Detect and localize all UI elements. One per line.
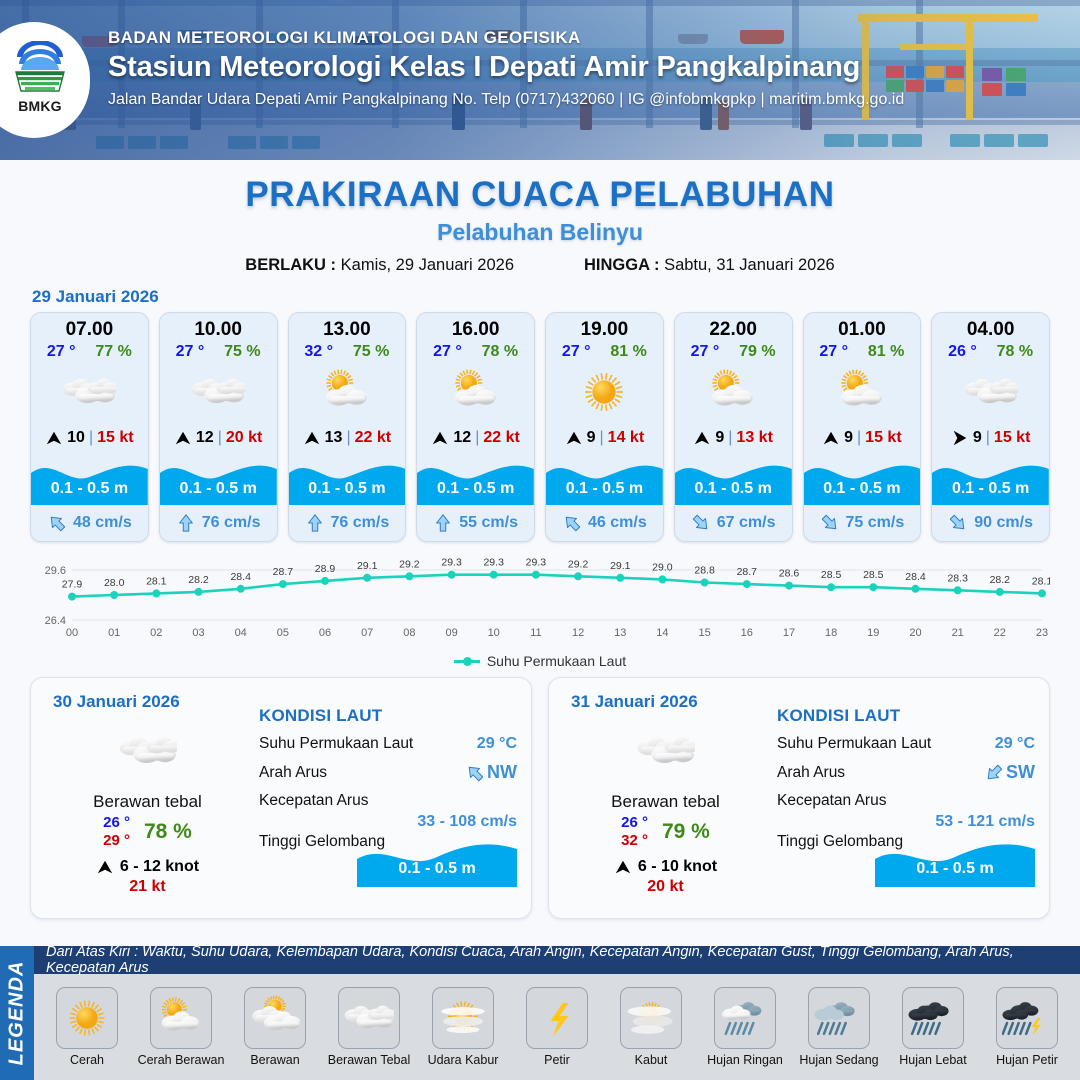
card-wind-speed: 9 bbox=[844, 429, 853, 447]
cerah-berawan-icon bbox=[417, 363, 534, 421]
forecast-card: 13.00 32 ° 75 % 13 | 22 kt 0.1 - 0.5 m bbox=[288, 312, 407, 542]
card-humidity: 77 % bbox=[95, 343, 131, 361]
card-time: 16.00 bbox=[417, 313, 534, 342]
station-name: Stasiun Meteorologi Kelas I Depati Amir … bbox=[108, 51, 904, 84]
card-gust: 15 kt bbox=[97, 429, 133, 447]
card-humidity: 78 % bbox=[482, 343, 518, 361]
card-wave: 0.1 - 0.5 m bbox=[289, 455, 406, 505]
valid-from: BERLAKU : Kamis, 29 Januari 2026 bbox=[245, 256, 514, 275]
svg-text:26.4: 26.4 bbox=[45, 615, 66, 627]
card-gust: 22 kt bbox=[483, 429, 519, 447]
card-time: 22.00 bbox=[675, 313, 792, 342]
card-temperature: 27 ° bbox=[819, 343, 848, 361]
chart-legend: Suhu Permukaan Laut bbox=[0, 653, 1080, 669]
card-wind: 12 | 22 kt bbox=[417, 421, 534, 455]
legend-item-label: Hujan Ringan bbox=[707, 1053, 783, 1067]
svg-text:17: 17 bbox=[783, 627, 795, 639]
svg-text:12: 12 bbox=[572, 627, 584, 639]
svg-text:29.2: 29.2 bbox=[399, 558, 420, 570]
panel-wave-height: 0.1 - 0.5 m bbox=[357, 860, 517, 878]
forecast-card: 22.00 27 ° 79 % 9 | 13 kt 0.1 - 0.5 m bbox=[674, 312, 793, 542]
card-current-speed: 55 cm/s bbox=[459, 514, 518, 532]
card-wave-height: 0.1 - 0.5 m bbox=[804, 480, 921, 498]
svg-text:23: 23 bbox=[1036, 627, 1048, 639]
card-wave: 0.1 - 0.5 m bbox=[31, 455, 148, 505]
svg-text:01: 01 bbox=[108, 627, 120, 639]
svg-text:20: 20 bbox=[909, 627, 921, 639]
svg-text:28.8: 28.8 bbox=[694, 565, 715, 577]
svg-text:29.0: 29.0 bbox=[652, 561, 673, 573]
legend-item-label: Cerah bbox=[70, 1053, 104, 1067]
forecast-card: 19.00 27 ° 81 % 9 | 14 kt 0.1 - 0.5 m 46… bbox=[545, 312, 664, 542]
current-direction-icon bbox=[820, 513, 840, 533]
wind-separator: | bbox=[728, 429, 732, 447]
berawan-tebal-icon bbox=[338, 987, 400, 1049]
page-title-block: PRAKIRAAN CUACA PELABUHAN Pelabuhan Beli… bbox=[0, 175, 1080, 275]
legend-item-label: Petir bbox=[544, 1053, 570, 1067]
card-wind: 10 | 15 kt bbox=[31, 421, 148, 455]
legend-item: Hujan Petir bbox=[981, 987, 1073, 1067]
wind-separator: | bbox=[986, 429, 990, 447]
card-wind-speed: 10 bbox=[67, 429, 85, 447]
legend-item-label: Hujan Petir bbox=[996, 1053, 1058, 1067]
svg-text:15: 15 bbox=[698, 627, 710, 639]
card-current-speed: 48 cm/s bbox=[73, 514, 132, 532]
sst-label: Suhu Permukaan Laut bbox=[259, 735, 413, 753]
berawan-tebal-icon bbox=[563, 722, 768, 780]
panel-gust: 21 kt bbox=[45, 878, 250, 896]
legend-item: Hujan Sedang bbox=[793, 987, 885, 1067]
svg-text:29.3: 29.3 bbox=[483, 557, 504, 569]
svg-text:02: 02 bbox=[150, 627, 162, 639]
wind-separator: | bbox=[346, 429, 350, 447]
wind-direction-icon bbox=[303, 429, 321, 447]
card-wind: 12 | 20 kt bbox=[160, 421, 277, 455]
svg-text:06: 06 bbox=[319, 627, 331, 639]
legend-item: Cerah bbox=[41, 987, 133, 1067]
svg-text:28.1: 28.1 bbox=[146, 575, 167, 587]
agency-name: BADAN METEOROLOGI KLIMATOLOGI DAN GEOFIS… bbox=[108, 28, 904, 48]
current-direction-icon bbox=[948, 513, 968, 533]
svg-text:09: 09 bbox=[445, 627, 457, 639]
card-gust: 15 kt bbox=[865, 429, 901, 447]
card-wind-speed: 13 bbox=[325, 429, 343, 447]
forecast-card: 04.00 26 ° 78 % 9 bbox=[931, 312, 1050, 542]
legend-item-label: Berawan bbox=[250, 1053, 299, 1067]
valid-to: HINGGA : Sabtu, 31 Januari 2026 bbox=[584, 256, 835, 275]
panel-condition: Berawan tebal bbox=[563, 792, 768, 812]
card-temperature: 32 ° bbox=[304, 343, 333, 361]
svg-text:28.0: 28.0 bbox=[104, 577, 125, 589]
hujan-lebat-icon bbox=[902, 987, 964, 1049]
card-current-speed: 90 cm/s bbox=[974, 514, 1033, 532]
wind-direction-icon bbox=[174, 429, 192, 447]
card-gust: 20 kt bbox=[226, 429, 262, 447]
hujan-petir-icon bbox=[996, 987, 1058, 1049]
svg-text:28.3: 28.3 bbox=[947, 572, 968, 584]
wind-direction-icon bbox=[565, 429, 583, 447]
current-direction-icon bbox=[465, 763, 485, 783]
card-temperature: 27 ° bbox=[562, 343, 591, 361]
svg-text:28.6: 28.6 bbox=[779, 568, 800, 580]
cerah-berawan-icon bbox=[289, 363, 406, 421]
current-direction-value: SW bbox=[984, 762, 1035, 783]
panel-wind-speed: 6 - 10 knot bbox=[638, 858, 717, 876]
card-current-speed: 76 cm/s bbox=[202, 514, 261, 532]
valid-from-label: BERLAKU : bbox=[245, 256, 336, 274]
sst-value: 29 °C bbox=[995, 735, 1035, 753]
panel-date: 31 Januari 2026 bbox=[571, 692, 698, 712]
valid-to-label: HINGGA : bbox=[584, 256, 659, 274]
panel-temp-min: 26 ° bbox=[621, 814, 648, 832]
current-direction-icon bbox=[176, 513, 196, 533]
wind-direction-icon bbox=[693, 429, 711, 447]
cerah-berawan-icon bbox=[675, 363, 792, 421]
forecast-cards: 07.00 27 ° 77 % 10 bbox=[0, 312, 1080, 542]
legend-item: Berawan Tebal bbox=[323, 987, 415, 1067]
current-speed-value: 33 - 108 cm/s bbox=[417, 813, 517, 830]
contact-info: Jalan Bandar Udara Depati Amir Pangkalpi… bbox=[108, 91, 904, 109]
panel-date: 30 Januari 2026 bbox=[53, 692, 180, 712]
legend-section: LEGENDA Dari Atas Kiri : Waktu, Suhu Uda… bbox=[0, 946, 1080, 1080]
card-current: 48 cm/s bbox=[31, 505, 148, 541]
svg-text:03: 03 bbox=[192, 627, 204, 639]
current-speed-label: Kecepatan Arus bbox=[259, 792, 368, 809]
card-current: 90 cm/s bbox=[932, 505, 1049, 541]
card-humidity: 79 % bbox=[739, 343, 775, 361]
legend-item: Berawan bbox=[229, 987, 321, 1067]
kabut-icon bbox=[620, 987, 682, 1049]
svg-text:22: 22 bbox=[994, 627, 1006, 639]
legend-item-label: Hujan Sedang bbox=[799, 1053, 878, 1067]
card-time: 10.00 bbox=[160, 313, 277, 342]
panel-wind: 6 - 12 knot bbox=[45, 858, 250, 876]
cerah-icon bbox=[56, 987, 118, 1049]
svg-text:28.9: 28.9 bbox=[315, 563, 336, 575]
card-temperature: 26 ° bbox=[948, 343, 977, 361]
card-wind-speed: 12 bbox=[453, 429, 471, 447]
card-current: 55 cm/s bbox=[417, 505, 534, 541]
card-gust: 13 kt bbox=[736, 429, 772, 447]
card-wave: 0.1 - 0.5 m bbox=[932, 455, 1049, 505]
card-wave-height: 0.1 - 0.5 m bbox=[160, 480, 277, 498]
legend-item-label: Berawan Tebal bbox=[328, 1053, 410, 1067]
card-wind-speed: 12 bbox=[196, 429, 214, 447]
forecast-date-label: 29 Januari 2026 bbox=[32, 287, 1080, 307]
card-wave-height: 0.1 - 0.5 m bbox=[289, 480, 406, 498]
hujan-sedang-icon bbox=[808, 987, 870, 1049]
berawan-tebal-icon bbox=[932, 363, 1049, 421]
page-header: BMKG BADAN METEOROLOGI KLIMATOLOGI DAN G… bbox=[0, 0, 1080, 160]
forecast-card: 10.00 27 ° 75 % 12 bbox=[159, 312, 278, 542]
svg-text:19: 19 bbox=[867, 627, 879, 639]
wind-separator: | bbox=[89, 429, 93, 447]
card-gust: 15 kt bbox=[994, 429, 1030, 447]
legend-item: Hujan Ringan bbox=[699, 987, 791, 1067]
svg-text:29.2: 29.2 bbox=[568, 558, 589, 570]
svg-text:21: 21 bbox=[952, 627, 964, 639]
forecast-card: 01.00 27 ° 81 % 9 | 15 kt 0.1 - 0.5 m bbox=[803, 312, 922, 542]
valid-from-value: Kamis, 29 Januari 2026 bbox=[341, 256, 514, 274]
legend-item: Hujan Lebat bbox=[887, 987, 979, 1067]
card-wave-height: 0.1 - 0.5 m bbox=[932, 480, 1049, 498]
svg-text:07: 07 bbox=[361, 627, 373, 639]
wind-direction-icon bbox=[431, 429, 449, 447]
svg-text:11: 11 bbox=[530, 627, 541, 639]
svg-text:28.2: 28.2 bbox=[188, 574, 209, 586]
svg-text:28.5: 28.5 bbox=[863, 569, 884, 581]
current-direction-label: Arah Arus bbox=[777, 764, 845, 782]
current-direction-icon bbox=[984, 763, 1004, 783]
card-wave: 0.1 - 0.5 m bbox=[417, 455, 534, 505]
card-wave: 0.1 - 0.5 m bbox=[160, 455, 277, 505]
card-temperature: 27 ° bbox=[691, 343, 720, 361]
card-time: 07.00 bbox=[31, 313, 148, 342]
current-direction-label: Arah Arus bbox=[259, 764, 327, 782]
svg-text:28.5: 28.5 bbox=[821, 569, 842, 581]
legend-item: Petir bbox=[511, 987, 603, 1067]
svg-text:16: 16 bbox=[741, 627, 753, 639]
card-wind: 9 | 15 kt bbox=[932, 421, 1049, 455]
wind-direction-icon bbox=[822, 429, 840, 447]
card-time: 01.00 bbox=[804, 313, 921, 342]
card-wave: 0.1 - 0.5 m bbox=[804, 455, 921, 505]
chart-legend-marker bbox=[454, 660, 480, 663]
card-time: 13.00 bbox=[289, 313, 406, 342]
cerah-icon bbox=[546, 363, 663, 421]
berawan-tebal-icon bbox=[45, 722, 250, 780]
wind-direction-icon bbox=[951, 429, 969, 447]
card-wave: 0.1 - 0.5 m bbox=[546, 455, 663, 505]
current-direction-value: NW bbox=[465, 762, 517, 783]
svg-text:29.3: 29.3 bbox=[441, 557, 462, 569]
card-current: 76 cm/s bbox=[160, 505, 277, 541]
validity-row: BERLAKU : Kamis, 29 Januari 2026 HINGGA … bbox=[0, 256, 1080, 275]
legend-item: Kabut bbox=[605, 987, 697, 1067]
legend-caption: Dari Atas Kiri : Waktu, Suhu Udara, Kele… bbox=[34, 946, 1080, 974]
sea-condition-title: KONDISI LAUT bbox=[777, 706, 1035, 726]
daily-summary-panel: 30 Januari 2026 Berawan tebal bbox=[30, 677, 532, 919]
wind-separator: | bbox=[600, 429, 604, 447]
card-current: 76 cm/s bbox=[289, 505, 406, 541]
panel-humidity: 78 % bbox=[144, 820, 192, 844]
svg-text:28.4: 28.4 bbox=[230, 571, 251, 583]
bmkg-logo-text: BMKG bbox=[18, 98, 62, 114]
card-temperature: 27 ° bbox=[176, 343, 205, 361]
udara-kabur-icon bbox=[432, 987, 494, 1049]
forecast-card: 07.00 27 ° 77 % 10 bbox=[30, 312, 149, 542]
legend-items: Cerah Cerah Berawan Berawan bbox=[34, 974, 1080, 1080]
current-direction-icon bbox=[562, 513, 582, 533]
svg-text:29.6: 29.6 bbox=[45, 565, 66, 577]
page-title: PRAKIRAAN CUACA PELABUHAN bbox=[0, 175, 1080, 215]
legend-item-label: Cerah Berawan bbox=[138, 1053, 225, 1067]
card-temperature: 27 ° bbox=[433, 343, 462, 361]
legend-sidebar-title: LEGENDA bbox=[6, 961, 29, 1066]
svg-text:28.2: 28.2 bbox=[990, 574, 1011, 586]
current-direction-icon bbox=[305, 513, 325, 533]
card-wave: 0.1 - 0.5 m bbox=[675, 455, 792, 505]
panel-wave: 0.1 - 0.5 m bbox=[259, 837, 517, 887]
panel-temp-min: 26 ° bbox=[103, 814, 130, 832]
card-gust: 22 kt bbox=[355, 429, 391, 447]
card-wave-height: 0.1 - 0.5 m bbox=[546, 480, 663, 498]
card-wind-speed: 9 bbox=[587, 429, 596, 447]
panel-gust: 20 kt bbox=[563, 878, 768, 896]
card-temperature: 27 ° bbox=[47, 343, 76, 361]
current-speed-value: 53 - 121 cm/s bbox=[935, 813, 1035, 830]
card-wind: 13 | 22 kt bbox=[289, 421, 406, 455]
legend-item-label: Kabut bbox=[635, 1053, 668, 1067]
svg-text:29.1: 29.1 bbox=[357, 560, 378, 572]
sst-chart: 29.626.427.90028.00128.10228.20328.40428… bbox=[30, 554, 1050, 649]
card-time: 04.00 bbox=[932, 313, 1049, 342]
current-direction-icon bbox=[433, 513, 453, 533]
panel-temp-max: 32 ° bbox=[621, 832, 648, 850]
card-wind-speed: 9 bbox=[973, 429, 982, 447]
daily-summary-panel: 31 Januari 2026 Berawan tebal bbox=[548, 677, 1050, 919]
wind-separator: | bbox=[857, 429, 861, 447]
current-direction-icon bbox=[47, 513, 67, 533]
wind-separator: | bbox=[475, 429, 479, 447]
card-wind-speed: 9 bbox=[715, 429, 724, 447]
svg-text:05: 05 bbox=[277, 627, 289, 639]
card-current-speed: 67 cm/s bbox=[717, 514, 776, 532]
berawan-icon bbox=[244, 987, 306, 1049]
card-humidity: 75 % bbox=[353, 343, 389, 361]
card-current: 67 cm/s bbox=[675, 505, 792, 541]
card-wave-height: 0.1 - 0.5 m bbox=[675, 480, 792, 498]
panel-condition: Berawan tebal bbox=[45, 792, 250, 812]
card-wave-height: 0.1 - 0.5 m bbox=[31, 480, 148, 498]
legend-item: Cerah Berawan bbox=[135, 987, 227, 1067]
valid-to-value: Sabtu, 31 Januari 2026 bbox=[664, 256, 835, 274]
wind-separator: | bbox=[218, 429, 222, 447]
sea-condition-title: KONDISI LAUT bbox=[259, 706, 517, 726]
cerah-berawan-icon bbox=[804, 363, 921, 421]
bmkg-logo-mark bbox=[11, 41, 69, 97]
current-speed-label: Kecepatan Arus bbox=[777, 792, 886, 809]
card-wind: 9 | 13 kt bbox=[675, 421, 792, 455]
sst-label: Suhu Permukaan Laut bbox=[777, 735, 931, 753]
panel-wave: 0.1 - 0.5 m bbox=[777, 837, 1035, 887]
svg-text:28.1: 28.1 bbox=[1032, 575, 1050, 587]
card-humidity: 81 % bbox=[868, 343, 904, 361]
svg-text:28.7: 28.7 bbox=[737, 566, 758, 578]
panel-wind-speed: 6 - 12 knot bbox=[120, 858, 199, 876]
svg-text:18: 18 bbox=[825, 627, 837, 639]
card-current: 75 cm/s bbox=[804, 505, 921, 541]
svg-text:27.9: 27.9 bbox=[62, 579, 83, 591]
forecast-card: 16.00 27 ° 78 % 12 | 22 kt 0.1 - 0.5 m bbox=[416, 312, 535, 542]
sst-value: 29 °C bbox=[477, 735, 517, 753]
svg-text:10: 10 bbox=[488, 627, 500, 639]
card-humidity: 78 % bbox=[997, 343, 1033, 361]
card-wind: 9 | 15 kt bbox=[804, 421, 921, 455]
wind-direction-icon bbox=[614, 858, 632, 876]
svg-text:14: 14 bbox=[656, 627, 668, 639]
berawan-tebal-icon bbox=[31, 363, 148, 421]
card-time: 19.00 bbox=[546, 313, 663, 342]
berawan-tebal-icon bbox=[160, 363, 277, 421]
svg-text:08: 08 bbox=[403, 627, 415, 639]
card-current-speed: 76 cm/s bbox=[331, 514, 390, 532]
card-current: 46 cm/s bbox=[546, 505, 663, 541]
legend-sidebar: LEGENDA bbox=[0, 946, 34, 1080]
panel-wave-height: 0.1 - 0.5 m bbox=[875, 860, 1035, 878]
card-current-speed: 75 cm/s bbox=[846, 514, 905, 532]
card-wave-height: 0.1 - 0.5 m bbox=[417, 480, 534, 498]
panel-humidity: 79 % bbox=[662, 820, 710, 844]
petir-icon bbox=[526, 987, 588, 1049]
card-wind: 9 | 14 kt bbox=[546, 421, 663, 455]
card-humidity: 81 % bbox=[610, 343, 646, 361]
panel-wind: 6 - 10 knot bbox=[563, 858, 768, 876]
legend-item: Udara Kabur bbox=[417, 987, 509, 1067]
wind-direction-icon bbox=[45, 429, 63, 447]
hujan-ringan-icon bbox=[714, 987, 776, 1049]
card-current-speed: 46 cm/s bbox=[588, 514, 647, 532]
cerah-berawan-icon bbox=[150, 987, 212, 1049]
svg-text:29.3: 29.3 bbox=[526, 557, 547, 569]
chart-legend-label: Suhu Permukaan Laut bbox=[487, 653, 626, 669]
card-gust: 14 kt bbox=[608, 429, 644, 447]
daily-summary-panels: 30 Januari 2026 Berawan tebal bbox=[0, 669, 1080, 919]
svg-text:28.4: 28.4 bbox=[905, 571, 926, 583]
svg-text:00: 00 bbox=[66, 627, 78, 639]
svg-text:13: 13 bbox=[614, 627, 626, 639]
svg-text:28.7: 28.7 bbox=[273, 566, 294, 578]
port-name: Pelabuhan Belinyu bbox=[0, 219, 1080, 246]
svg-text:29.1: 29.1 bbox=[610, 560, 631, 572]
legend-item-label: Hujan Lebat bbox=[899, 1053, 966, 1067]
card-humidity: 75 % bbox=[224, 343, 260, 361]
wind-direction-icon bbox=[96, 858, 114, 876]
current-direction-icon bbox=[691, 513, 711, 533]
svg-text:04: 04 bbox=[235, 627, 247, 639]
legend-item-label: Udara Kabur bbox=[428, 1053, 499, 1067]
panel-temp-max: 29 ° bbox=[103, 832, 130, 850]
